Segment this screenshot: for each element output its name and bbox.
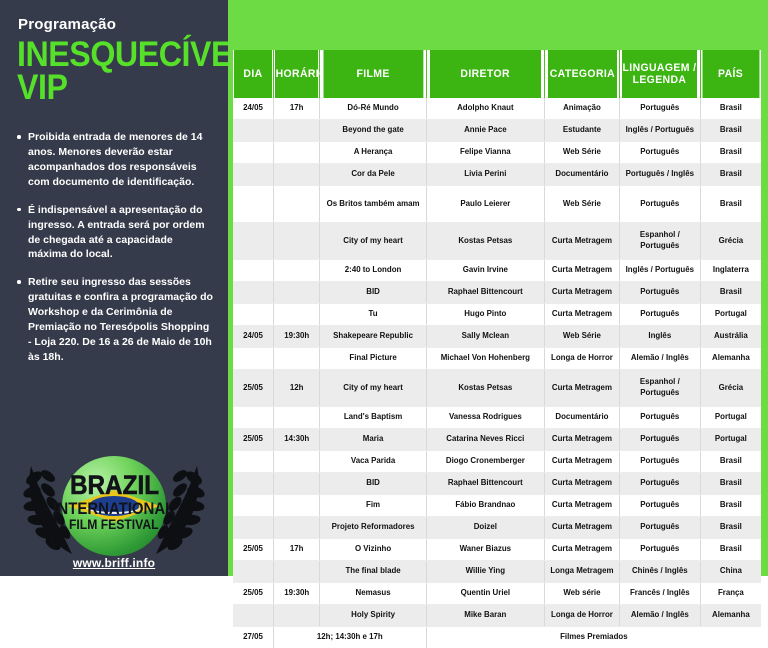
cell-dia	[233, 451, 273, 473]
cell-horario: 17h	[273, 98, 320, 120]
table-row: Beyond the gateAnnie PaceEstudanteInglês…	[233, 120, 761, 142]
column-header-categoria: CATEGORIA	[546, 50, 617, 98]
cell-filme: BID	[320, 282, 426, 304]
cell-dia: 25/05	[233, 370, 273, 407]
cell-categoria: Curta Metragem	[545, 539, 620, 561]
cell-linguagem: Português	[619, 186, 700, 223]
table-row: A HerançaFelipe ViannaWeb SériePortuguês…	[233, 142, 761, 164]
cell-linguagem: Português	[619, 407, 700, 429]
poster-root: Programação INESQUECÍVEL VIP Proibida en…	[0, 0, 768, 576]
cell-diretor: Doizel	[426, 517, 544, 539]
cell-pais: Grécia	[700, 223, 761, 260]
cell-pais: Brasil	[700, 164, 761, 186]
cell-dia	[233, 348, 273, 370]
cell-linguagem: Inglês / Português	[619, 120, 700, 142]
cell-categoria: Longa de Horror	[545, 348, 620, 370]
cell-linguagem: Português	[619, 429, 700, 451]
cell-diretor: Kostas Petsas	[426, 223, 544, 260]
cell-horario	[273, 605, 320, 627]
cell-linguagem: Espanhol / Português	[619, 223, 700, 260]
cell-horario	[273, 142, 320, 164]
table-row: FimFábio BrandnaoCurta MetragemPortuguês…	[233, 495, 761, 517]
headline-line-2: VIP	[17, 72, 198, 105]
cell-pais: Alemanha	[700, 348, 761, 370]
column-header-horario: HORÁRIO	[275, 50, 319, 98]
laurel-right-icon	[150, 458, 206, 558]
laurel-left-icon	[22, 458, 78, 558]
cell-filme: Maria	[320, 429, 426, 451]
cell-diretor: Mike Baran	[426, 605, 544, 627]
cell-dia: 25/05	[233, 429, 273, 451]
cell-diretor: Vanessa Rodrigues	[426, 407, 544, 429]
cell-pais: Portugal	[700, 407, 761, 429]
cell-filme: Fim	[320, 495, 426, 517]
cell-categoria: Documentário	[545, 407, 620, 429]
table-row: 25/0519:30hNemasusQuentin UrielWeb série…	[233, 583, 761, 605]
cell-diretor: Raphael Bittencourt	[426, 473, 544, 495]
cell-filme: Nemasus	[320, 583, 426, 605]
cell-dia	[233, 605, 273, 627]
column-header-linguagem: LINGUAGEM / LEGENDA	[621, 50, 698, 98]
cell-pais: Austrália	[700, 326, 761, 348]
cell-diretor: Paulo Leierer	[426, 186, 544, 223]
cell-linguagem: Português	[619, 282, 700, 304]
cell-dia: 24/05	[233, 326, 273, 348]
cell-categoria: Curta Metragem	[545, 260, 620, 282]
cell-linguagem: Alemão / Inglês	[619, 348, 700, 370]
table-row: 25/0512hCity of my heartKostas PetsasCur…	[233, 370, 761, 407]
cell-diretor: Diogo Cronemberger	[426, 451, 544, 473]
table-row: Holy SpirityMike BaranLonga de HorrorAle…	[233, 605, 761, 627]
table-row: 25/0514:30hMariaCatarina Neves RicciCurt…	[233, 429, 761, 451]
column-header-diretor: DIRETOR	[429, 50, 541, 98]
table-row: TuHugo PintoCurta MetragemPortuguêsPortu…	[233, 304, 761, 326]
cell-pais: Brasil	[700, 186, 761, 223]
cell-diretor: Fábio Brandnao	[426, 495, 544, 517]
cell-dia	[233, 495, 273, 517]
cell-pais: Brasil	[700, 517, 761, 539]
cell-horario	[273, 451, 320, 473]
table-row: 24/0519:30hShakepeare RepublicSally Mcle…	[233, 326, 761, 348]
cell-filme: Shakepeare Republic	[320, 326, 426, 348]
cell-linguagem: Português	[619, 539, 700, 561]
cell-diretor: Annie Pace	[426, 120, 544, 142]
cell-diretor: Gavin Irvine	[426, 260, 544, 282]
table-row: Cor da PeleLivia PeriniDocumentárioPortu…	[233, 164, 761, 186]
cell-pais: Alemanha	[700, 605, 761, 627]
table-row: 2:40 to LondonGavin IrvineCurta Metragem…	[233, 260, 761, 282]
cell-diretor: Willie Ying	[426, 561, 544, 583]
cell-pais: China	[700, 561, 761, 583]
table-row: BIDRaphael BittencourtCurta MetragemPort…	[233, 473, 761, 495]
cell-diretor: Sally Mclean	[426, 326, 544, 348]
cell-horario	[273, 223, 320, 260]
cell-dia	[233, 473, 273, 495]
table-row: Vaca ParidaDiogo CronembergerCurta Metra…	[233, 451, 761, 473]
cell-filme: Tu	[320, 304, 426, 326]
cell-horario: 17h	[273, 539, 320, 561]
cell-diretor: Raphael Bittencourt	[426, 282, 544, 304]
cell-pais: Brasil	[700, 120, 761, 142]
cell-linguagem: Português	[619, 451, 700, 473]
logo: BRAZIL INTERNATIONAL FILM FESTIVAL	[14, 452, 214, 564]
cell-pais: Brasil	[700, 473, 761, 495]
page-title: INESQUECÍVEL VIP	[17, 39, 198, 104]
notes-list: Proibida entrada de menores de 14 anos. …	[16, 130, 214, 365]
cell-categoria: Longa Metragem	[545, 561, 620, 583]
cell-pais: Grécia	[700, 370, 761, 407]
cell-dia	[233, 561, 273, 583]
cell-linguagem: Português	[619, 517, 700, 539]
cell-filme: The final blade	[320, 561, 426, 583]
cell-filme: Os Britos também amam	[320, 186, 426, 223]
cell-linguagem: Português	[619, 142, 700, 164]
cell-filme: Land's Baptism	[320, 407, 426, 429]
cell-horario	[273, 561, 320, 583]
cell-horario: 19:30h	[273, 326, 320, 348]
cell-horario: 19:30h	[273, 583, 320, 605]
cell-categoria: Curta Metragem	[545, 429, 620, 451]
cell-diretor: Hugo Pinto	[426, 304, 544, 326]
cell-filme: City of my heart	[320, 370, 426, 407]
column-header-dia: DIA	[234, 50, 272, 98]
cell-categoria: Web Série	[545, 186, 620, 223]
cell-horario	[273, 473, 320, 495]
cell-linguagem: Português	[619, 473, 700, 495]
cell-horarios-premiados: 12h; 14:30h e 17h	[273, 627, 426, 648]
cell-categoria: Animação	[545, 98, 620, 120]
cell-categoria: Curta Metragem	[545, 495, 620, 517]
cell-dia: 24/05	[233, 98, 273, 120]
table-header-row: DIA HORÁRIO FILME DIRETOR CATEGORIA LING…	[233, 50, 761, 98]
cell-dia	[233, 304, 273, 326]
table-row: City of my heartKostas PetsasCurta Metra…	[233, 223, 761, 260]
cell-diretor: Waner Biazus	[426, 539, 544, 561]
column-header-pais: PAÍS	[702, 50, 760, 98]
cell-filme: Projeto Reformadores	[320, 517, 426, 539]
list-item: Retire seu ingresso das sessões gratuita…	[16, 275, 214, 364]
table-row: Final PictureMichael Von HohenbergLonga …	[233, 348, 761, 370]
cell-filme: Final Picture	[320, 348, 426, 370]
cell-linguagem: Inglês	[619, 326, 700, 348]
table-row: BIDRaphael BittencourtCurta MetragemPort…	[233, 282, 761, 304]
cell-filme: Vaca Parida	[320, 451, 426, 473]
table-row: Land's BaptismVanessa RodriguesDocumentá…	[233, 407, 761, 429]
cell-dia: 25/05	[233, 539, 273, 561]
cell-linguagem: Francês / Inglês	[619, 583, 700, 605]
cell-filme: Beyond the gate	[320, 120, 426, 142]
cell-categoria: Curta Metragem	[545, 517, 620, 539]
cell-dia	[233, 186, 273, 223]
cell-categoria: Curta Metragem	[545, 223, 620, 260]
cell-linguagem: Português	[619, 304, 700, 326]
kicker-text: Programação	[18, 16, 214, 33]
cell-linguagem: Português	[619, 98, 700, 120]
cell-categoria: Curta Metragem	[545, 370, 620, 407]
cell-horario	[273, 282, 320, 304]
table-row: 25/0517hO VizinhoWaner BiazusCurta Metra…	[233, 539, 761, 561]
schedule-table: DIA HORÁRIO FILME DIRETOR CATEGORIA LING…	[233, 50, 761, 648]
column-header-filme: FILME	[323, 50, 424, 98]
cell-dia	[233, 407, 273, 429]
cell-diretor: Livia Perini	[426, 164, 544, 186]
cell-categoria: Estudante	[545, 120, 620, 142]
cell-dia	[233, 260, 273, 282]
table-row: 24/0517hDó-Ré MundoAdolpho KnautAnimação…	[233, 98, 761, 120]
table-row: Os Britos também amamPaulo LeiererWeb Sé…	[233, 186, 761, 223]
cell-filme: A Herança	[320, 142, 426, 164]
cell-linguagem: Português / Inglês	[619, 164, 700, 186]
cell-horario	[273, 260, 320, 282]
cell-pais: Brasil	[700, 451, 761, 473]
cell-categoria: Documentário	[545, 164, 620, 186]
list-item: É indispensável a apresentação do ingres…	[16, 203, 214, 263]
cell-dia	[233, 164, 273, 186]
cell-filme: O Vizinho	[320, 539, 426, 561]
table-header: DIA HORÁRIO FILME DIRETOR CATEGORIA LING…	[233, 50, 761, 98]
cell-horario	[273, 164, 320, 186]
cell-diretor: Felipe Vianna	[426, 142, 544, 164]
cell-dia	[233, 517, 273, 539]
cell-diretor: Catarina Neves Ricci	[426, 429, 544, 451]
cell-horario	[273, 120, 320, 142]
table-row: Projeto ReformadoresDoizelCurta Metragem…	[233, 517, 761, 539]
schedule-table-wrapper: DIA HORÁRIO FILME DIRETOR CATEGORIA LING…	[233, 50, 761, 530]
cell-categoria: Web Série	[545, 326, 620, 348]
cell-dia	[233, 223, 273, 260]
cell-horario	[273, 517, 320, 539]
cell-categoria: Web Série	[545, 142, 620, 164]
cell-categoria: Curta Metragem	[545, 304, 620, 326]
festival-logo-block: BRAZIL INTERNATIONAL FILM FESTIVAL www.b…	[0, 452, 228, 570]
table-row-final: 27/0512h; 14:30h e 17hFilmes Premiados	[233, 627, 761, 648]
schedule-panel: DIA HORÁRIO FILME DIRETOR CATEGORIA LING…	[228, 0, 768, 576]
cell-categoria: Curta Metragem	[545, 282, 620, 304]
cell-pais: Inglaterra	[700, 260, 761, 282]
cell-pais: Portugal	[700, 304, 761, 326]
cell-categoria: Curta Metragem	[545, 451, 620, 473]
cell-pais: Brasil	[700, 495, 761, 517]
cell-filme: Holy Spirity	[320, 605, 426, 627]
cell-horario	[273, 348, 320, 370]
cell-filme: City of my heart	[320, 223, 426, 260]
cell-pais: Brasil	[700, 98, 761, 120]
cell-horario	[273, 304, 320, 326]
cell-dia: 27/05	[233, 627, 273, 648]
cell-pais: Portugal	[700, 429, 761, 451]
list-item: Proibida entrada de menores de 14 anos. …	[16, 130, 214, 190]
cell-horario	[273, 186, 320, 223]
cell-linguagem: Alemão / Inglês	[619, 605, 700, 627]
cell-horario	[273, 495, 320, 517]
cell-filme: 2:40 to London	[320, 260, 426, 282]
cell-diretor: Kostas Petsas	[426, 370, 544, 407]
cell-pais: França	[700, 583, 761, 605]
cell-diretor: Adolpho Knaut	[426, 98, 544, 120]
cell-pais: Brasil	[700, 539, 761, 561]
cell-linguagem: Espanhol / Português	[619, 370, 700, 407]
table-row: The final bladeWillie YingLonga Metragem…	[233, 561, 761, 583]
cell-categoria: Web série	[545, 583, 620, 605]
cell-dia	[233, 120, 273, 142]
cell-dia	[233, 282, 273, 304]
cell-filme: BID	[320, 473, 426, 495]
cell-horario: 12h	[273, 370, 320, 407]
cell-filme: Cor da Pele	[320, 164, 426, 186]
cell-filme: Dó-Ré Mundo	[320, 98, 426, 120]
cell-dia: 25/05	[233, 583, 273, 605]
cell-horario: 14:30h	[273, 429, 320, 451]
cell-linguagem: Inglês / Português	[619, 260, 700, 282]
cell-linguagem: Português	[619, 495, 700, 517]
cell-categoria: Longa de Horror	[545, 605, 620, 627]
cell-horario	[273, 407, 320, 429]
cell-pais: Brasil	[700, 142, 761, 164]
cell-dia	[233, 142, 273, 164]
cell-linguagem: Chinês / Inglês	[619, 561, 700, 583]
table-body: 24/0517hDó-Ré MundoAdolpho KnautAnimação…	[233, 98, 761, 648]
cell-pais: Brasil	[700, 282, 761, 304]
left-info-panel: Programação INESQUECÍVEL VIP Proibida en…	[0, 0, 228, 576]
cell-filmes-premiados: Filmes Premiados	[426, 627, 761, 648]
cell-categoria: Curta Metragem	[545, 473, 620, 495]
cell-diretor: Michael Von Hohenberg	[426, 348, 544, 370]
cell-diretor: Quentin Uriel	[426, 583, 544, 605]
